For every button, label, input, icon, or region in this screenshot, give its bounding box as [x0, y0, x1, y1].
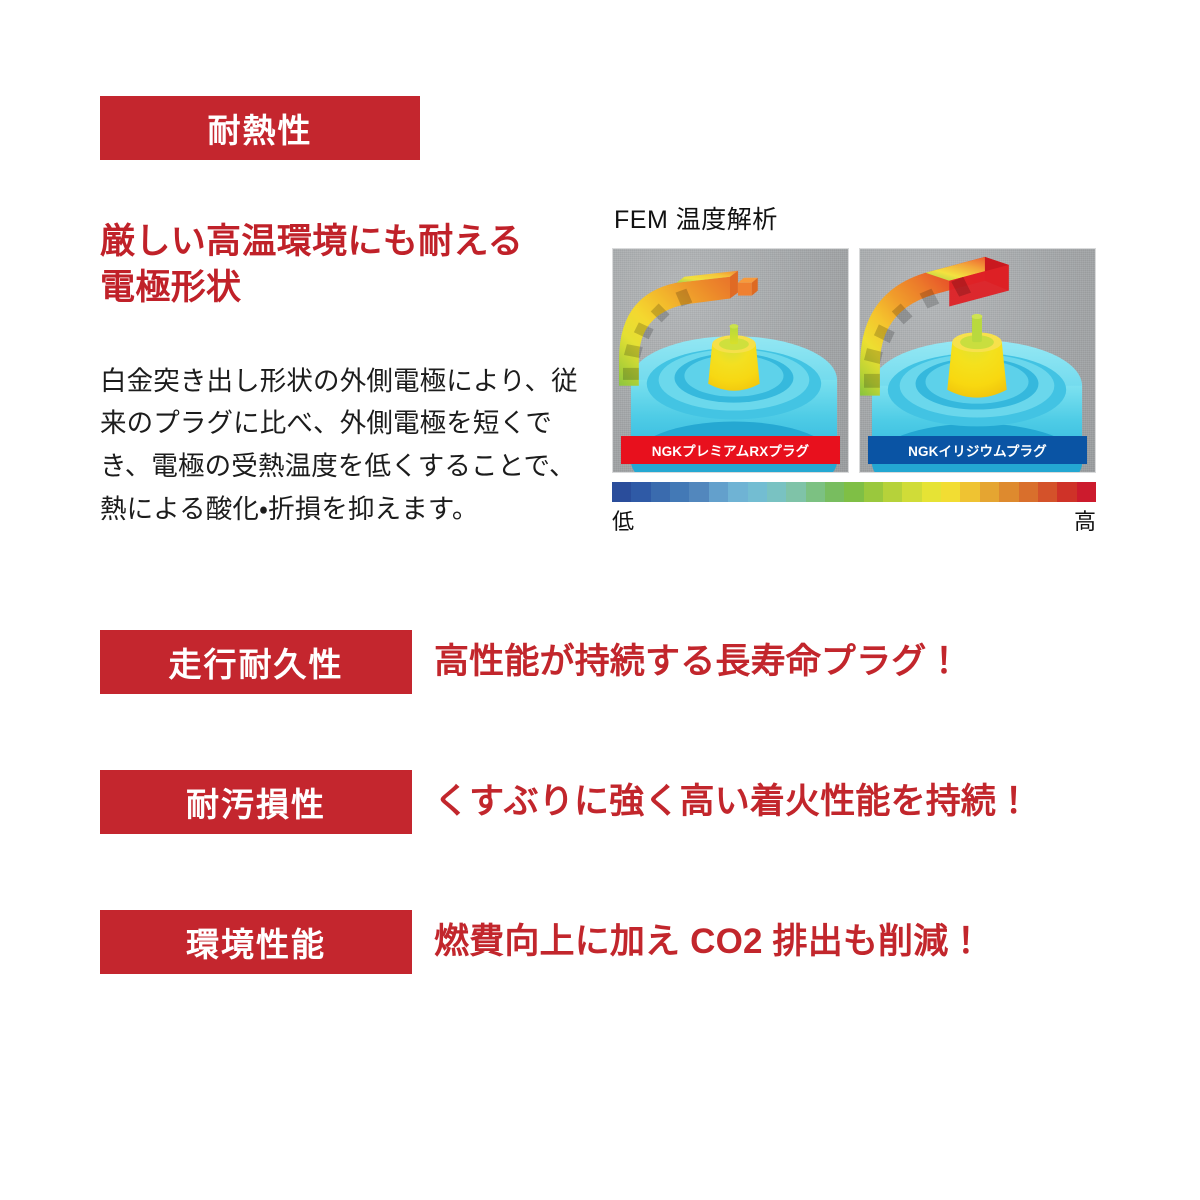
scale-low-label: 低	[612, 504, 634, 536]
color-scale-band	[748, 482, 767, 502]
heat-body-text: 白金突き出し形状の外側電極により、従来のプラグに比べ、外側電極を短くでき、電極の…	[100, 360, 580, 532]
section-tag-heat-resistance: 耐熱性	[100, 96, 420, 160]
feature-row-durability: 走行耐久性 高性能が持続する長寿命プラグ！	[0, 630, 1200, 737]
fem-image-premium-rx: NGKプレミアムRXプラグ	[612, 248, 849, 473]
color-scale-band	[786, 482, 805, 502]
fem-image-pair: NGKプレミアムRXプラグ	[612, 248, 1096, 473]
color-scale-labels: 低 高	[612, 504, 1096, 536]
feature-tag-label: 環境性能	[186, 918, 326, 966]
feature-list: 走行耐久性 高性能が持続する長寿命プラグ！ 耐汚損性 くすぶりに強く高い着火性能…	[0, 630, 1200, 1017]
color-scale-band	[1019, 482, 1038, 502]
color-scale-band	[902, 482, 921, 502]
color-scale-band	[728, 482, 747, 502]
color-scale-band	[767, 482, 786, 502]
fem-image-iridium: NGKイリジウムプラグ	[859, 248, 1096, 473]
color-scale-band	[670, 482, 689, 502]
color-scale-band	[922, 482, 941, 502]
fem-label-iridium: NGKイリジウムプラグ	[868, 436, 1087, 464]
temperature-color-scale: 低 高	[612, 482, 1096, 536]
color-scale-band	[651, 482, 670, 502]
color-scale-band	[1077, 482, 1096, 502]
feature-row-fouling: 耐汚損性 くすぶりに強く高い着火性能を持続！	[0, 770, 1200, 877]
color-scale-band	[999, 482, 1018, 502]
feature-tag-environment: 環境性能	[100, 910, 412, 974]
color-scale-band	[689, 482, 708, 502]
color-scale-band	[612, 482, 631, 502]
feature-row-environment: 環境性能 燃費向上に加え CO2 排出も削減！	[0, 910, 1200, 1017]
color-scale-band	[631, 482, 650, 502]
color-scale-band	[941, 482, 960, 502]
color-scale-bar	[612, 482, 1096, 502]
feature-tag-label: 耐汚損性	[186, 778, 326, 826]
section-tag-label: 耐熱性	[208, 104, 313, 152]
color-scale-band	[1057, 482, 1076, 502]
feature-tag-fouling: 耐汚損性	[100, 770, 412, 834]
heat-resistance-section: 耐熱性 厳しい高温環境にも耐える電極形状 白金突き出し形状の外側電極により、従来…	[0, 0, 1200, 600]
color-scale-band	[864, 482, 883, 502]
fem-label-text: NGKイリジウムプラグ	[908, 440, 1047, 460]
feature-tag-label: 走行耐久性	[169, 638, 344, 686]
color-scale-band	[825, 482, 844, 502]
color-scale-band	[980, 482, 999, 502]
fem-label-premium-rx: NGKプレミアムRXプラグ	[621, 436, 840, 464]
fem-analysis-panel: FEM 温度解析	[612, 200, 1096, 536]
feature-tag-durability: 走行耐久性	[100, 630, 412, 694]
color-scale-band	[1038, 482, 1057, 502]
color-scale-band	[844, 482, 863, 502]
feature-text-environment: 燃費向上に加え CO2 排出も削減！	[434, 910, 984, 974]
color-scale-band	[960, 482, 979, 502]
feature-text-fouling: くすぶりに強く高い着火性能を持続！	[434, 770, 1031, 834]
feature-text-durability: 高性能が持続する長寿命プラグ！	[434, 630, 962, 694]
fem-label-text: NGKプレミアムRXプラグ	[652, 440, 810, 460]
scale-high-label: 高	[1074, 504, 1096, 536]
color-scale-band	[806, 482, 825, 502]
color-scale-band	[709, 482, 728, 502]
fem-caption: FEM 温度解析	[614, 200, 1096, 236]
heat-headline: 厳しい高温環境にも耐える電極形状	[100, 219, 570, 311]
color-scale-band	[883, 482, 902, 502]
